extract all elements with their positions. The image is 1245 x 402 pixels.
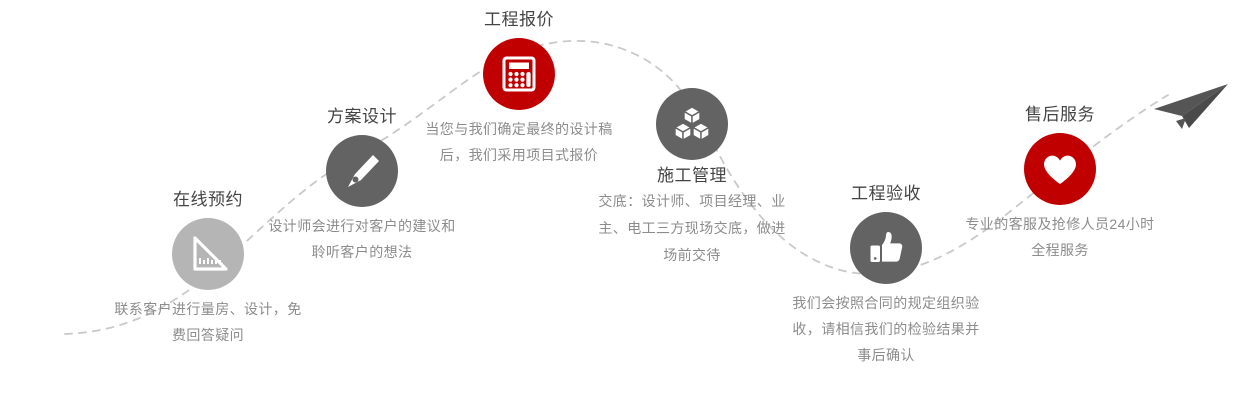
step-title: 施工管理 [597,164,787,188]
triangle-ruler-icon [172,218,244,290]
step-after-sales-service[interactable]: 售后服务 专业的客服及抢修人员24小时全程服务 [965,103,1155,263]
step-title: 售后服务 [965,103,1155,127]
paper-plane-icon [1148,82,1232,134]
step-description: 交底：设计师、项目经理、业主、电工三方现场交底，做进场前交待 [597,188,787,269]
step-project-acceptance[interactable]: 工程验收 我们会按照合同的规定组织验收，请相信我们的检验结果并事后确认 [791,182,981,368]
boxes-icon [656,88,728,160]
process-flow-diagram: 在线预约 联系客户进行量房、设计，免费回答疑问 方案设计 [0,0,1245,402]
step-description: 当您与我们确定最终的设计稿后，我们采用项目式报价 [424,116,614,168]
step-description: 设计师会进行对客户的建议和聆听客户的想法 [267,213,457,265]
thumbs-up-icon [850,212,922,284]
heart-icon [1024,133,1096,205]
fountain-pen-icon [326,135,398,207]
step-construction-management[interactable]: 施工管理 交底：设计师、项目经理、业主、电工三方现场交底，做进场前交待 [597,82,787,269]
step-title: 工程报价 [424,8,614,32]
step-description: 联系客户进行量房、设计，免费回答疑问 [113,296,303,348]
step-project-quotation[interactable]: 工程报价 当您与我们确定最终的设计稿后，我们采用项目式报价 [424,8,614,168]
step-title: 工程验收 [791,182,981,206]
step-description: 我们会按照合同的规定组织验收，请相信我们的检验结果并事后确认 [791,290,981,368]
calculator-icon [483,38,555,110]
step-description: 专业的客服及抢修人员24小时全程服务 [965,211,1155,263]
